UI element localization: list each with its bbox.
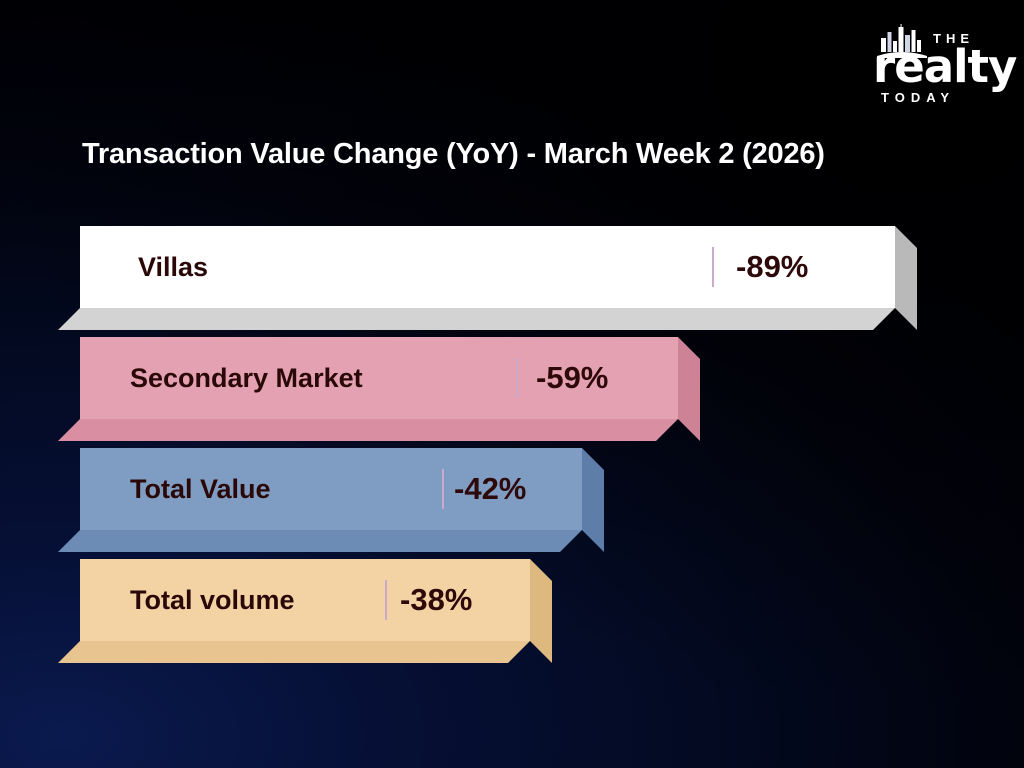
bar-bottom-face (58, 308, 895, 330)
bar-label: Total volume (130, 585, 295, 616)
bar-front-face: Secondary Market-59% (80, 337, 678, 419)
bar-front-face: Total Value-42% (80, 448, 582, 530)
bar-villas: Villas-89% (80, 226, 895, 308)
bar-total-value: Total Value-42% (80, 448, 582, 530)
bar-value: -42% (454, 471, 526, 507)
bar-total-volume: Total volume-38% (80, 559, 530, 641)
bar-front-face: Total volume-38% (80, 559, 530, 641)
bar-value: -89% (736, 249, 808, 285)
bar-front-face: Villas-89% (80, 226, 895, 308)
bar-side-face (678, 337, 700, 441)
bar-side-face (530, 559, 552, 663)
bar-secondary-market: Secondary Market-59% (80, 337, 678, 419)
bar-label: Secondary Market (130, 363, 363, 394)
bar-bottom-face (58, 641, 530, 663)
bar-divider (385, 580, 387, 620)
bar-divider (516, 358, 518, 398)
bar-bottom-face (58, 530, 582, 552)
bar-bottom-face (58, 419, 678, 441)
bar-side-face (895, 226, 917, 330)
bar-divider (712, 247, 714, 287)
bar-divider (442, 469, 444, 509)
bar-label: Villas (138, 252, 208, 283)
bar-side-face (582, 448, 604, 552)
bar-value: -59% (536, 360, 608, 396)
bar-label: Total Value (130, 474, 271, 505)
horizontal-bar-chart: Villas-89%Secondary Market-59%Total Valu… (0, 0, 1024, 768)
bar-value: -38% (400, 582, 472, 618)
